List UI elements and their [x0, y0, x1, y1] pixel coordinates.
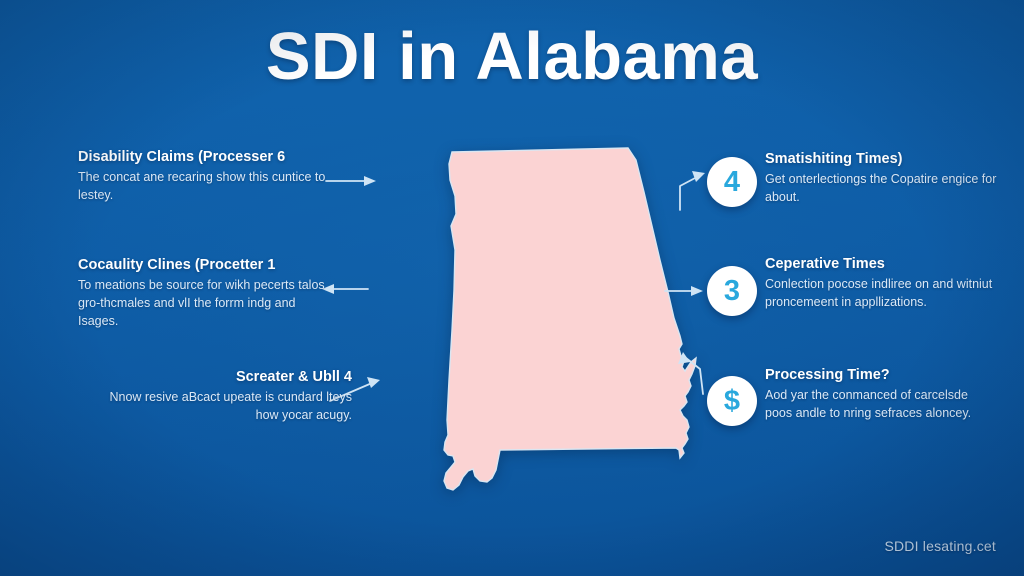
alabama-map [430, 130, 730, 510]
info-block-left-1: Disability Claims (Processer 6 The conca… [78, 148, 328, 205]
badge-number-4: 4 [707, 157, 757, 207]
info-block-heading: Ceperative Times [765, 255, 997, 273]
connector-left-2 [322, 284, 368, 294]
info-block-heading: Processing Time? [765, 366, 997, 384]
info-block-heading: Smatishiting Times) [765, 150, 997, 168]
info-block-body: Conlection pocose indliree on and witniu… [765, 276, 997, 312]
badge-dollar-icon: $ [707, 376, 757, 426]
info-block-heading: Cocaulity Clines (Procetter 1 [78, 256, 328, 274]
connector-left-1 [326, 176, 376, 186]
alabama-map-svg [430, 130, 730, 510]
info-block-heading: Disability Claims (Processer 6 [78, 148, 328, 166]
info-block-body: To meations be source for wikh pecerts t… [78, 277, 328, 330]
infographic-poster: SDI in Alabama [0, 0, 1024, 576]
alabama-map-shape [444, 148, 696, 490]
info-block-left-2: Cocaulity Clines (Procetter 1 To meation… [78, 256, 328, 330]
info-block-body: Nnow resive aBcact upeate is cundard lte… [100, 389, 352, 425]
info-block-body: The concat ane recaring show this cuntic… [78, 169, 328, 205]
info-block-right-3: Processing Time? Aod yar the conmanced o… [765, 366, 997, 423]
info-block-left-3: Screater & Ubll 4 Nnow resive aBcact upe… [100, 368, 352, 425]
footer-source: SDDI lesating.cet [884, 538, 996, 554]
info-block-right-1: Smatishiting Times) Get onterlectiongs t… [765, 150, 997, 207]
info-block-body: Aod yar the conmanced of carcelsde poos … [765, 387, 997, 423]
info-block-body: Get onterlectiongs the Copatire engice f… [765, 171, 997, 207]
info-block-heading: Screater & Ubll 4 [100, 368, 352, 386]
info-block-right-2: Ceperative Times Conlection pocose indli… [765, 255, 997, 312]
page-title: SDI in Alabama [0, 22, 1024, 92]
badge-number-3: 3 [707, 266, 757, 316]
